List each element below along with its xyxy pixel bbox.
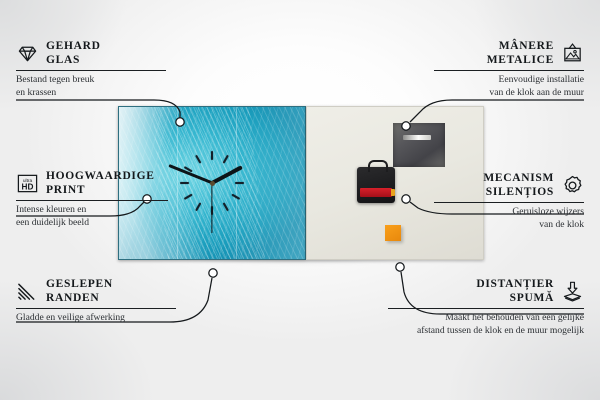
metal-hanger-plate: [393, 123, 445, 167]
callout-gehard-glas: GEHARDGLAS Bestand tegen breuken krassen: [16, 40, 166, 100]
movement-hanger-loop: [368, 160, 388, 172]
hand-cap: [210, 181, 215, 186]
foam-spacer: [385, 225, 401, 241]
callout-geslepen-randen: GESLEPENRANDEN Gladde en veilige afwerki…: [16, 278, 176, 325]
press-down-layers-icon: [561, 280, 584, 303]
callout-heading: MECANISMSILENȚIOS: [434, 172, 584, 199]
callout-rule: [434, 202, 584, 203]
callout-rule: [16, 200, 168, 201]
diamond-icon: [16, 42, 39, 65]
callout-heading: GEHARDGLAS: [16, 40, 166, 67]
callout-heading: DISTANȚIERSPUMĂ: [388, 278, 584, 305]
bevelled-edges-icon: [16, 280, 39, 303]
battery-tip: [391, 189, 395, 196]
callout-body: Eenvoudige installatievan de klok aan de…: [434, 74, 584, 100]
svg-text:HD: HD: [22, 182, 34, 191]
callout-hoogwaardige-print: ultra HD HOOGWAARDIGEPRINT Intense kleur…: [16, 170, 168, 230]
callout-heading: ultra HD HOOGWAARDIGEPRINT: [16, 170, 168, 197]
product-image: [118, 106, 482, 262]
hanger-slot: [403, 135, 431, 140]
picture-frame-hook-icon: [561, 42, 584, 65]
callout-title: DISTANȚIERSPUMĂ: [476, 278, 554, 305]
callout-title: MECANISMSILENȚIOS: [483, 172, 554, 199]
callout-mecanism-silentios: MECANISMSILENȚIOS Geruisloze wijzersvan …: [434, 172, 584, 232]
callout-body: Maakt het behouden van een gelijkeafstan…: [388, 312, 584, 338]
callout-manere-metalice: MÂNEREMETALICE Eenvoudige installatievan…: [434, 40, 584, 100]
gear-icon: [561, 174, 584, 197]
callout-title: HOOGWAARDIGEPRINT: [46, 170, 155, 197]
callout-body: Bestand tegen breuken krassen: [16, 74, 166, 100]
callout-title: GESLEPENRANDEN: [46, 278, 113, 305]
callout-distantier-spuma: DISTANȚIERSPUMĂ Maakt het behouden van e…: [388, 278, 584, 338]
callout-body: Intense kleuren eneen duidelijk beeld: [16, 204, 168, 230]
infographic-canvas: GEHARDGLAS Bestand tegen breuken krassen…: [0, 0, 600, 400]
callout-body: Geruisloze wijzersvan de klok: [434, 206, 584, 232]
callout-title: GEHARDGLAS: [46, 40, 101, 67]
ultra-hd-icon: ultra HD: [16, 172, 39, 195]
battery: [360, 188, 392, 197]
callout-rule: [16, 70, 166, 71]
callout-body: Gladde en veilige afwerking: [16, 312, 176, 325]
callout-heading: GESLEPENRANDEN: [16, 278, 176, 305]
callout-rule: [16, 308, 176, 309]
callout-heading: MÂNEREMETALICE: [434, 40, 584, 67]
callout-rule: [388, 308, 584, 309]
callout-rule: [434, 70, 584, 71]
callout-title: MÂNEREMETALICE: [487, 40, 554, 67]
clock-movement: [357, 167, 395, 203]
